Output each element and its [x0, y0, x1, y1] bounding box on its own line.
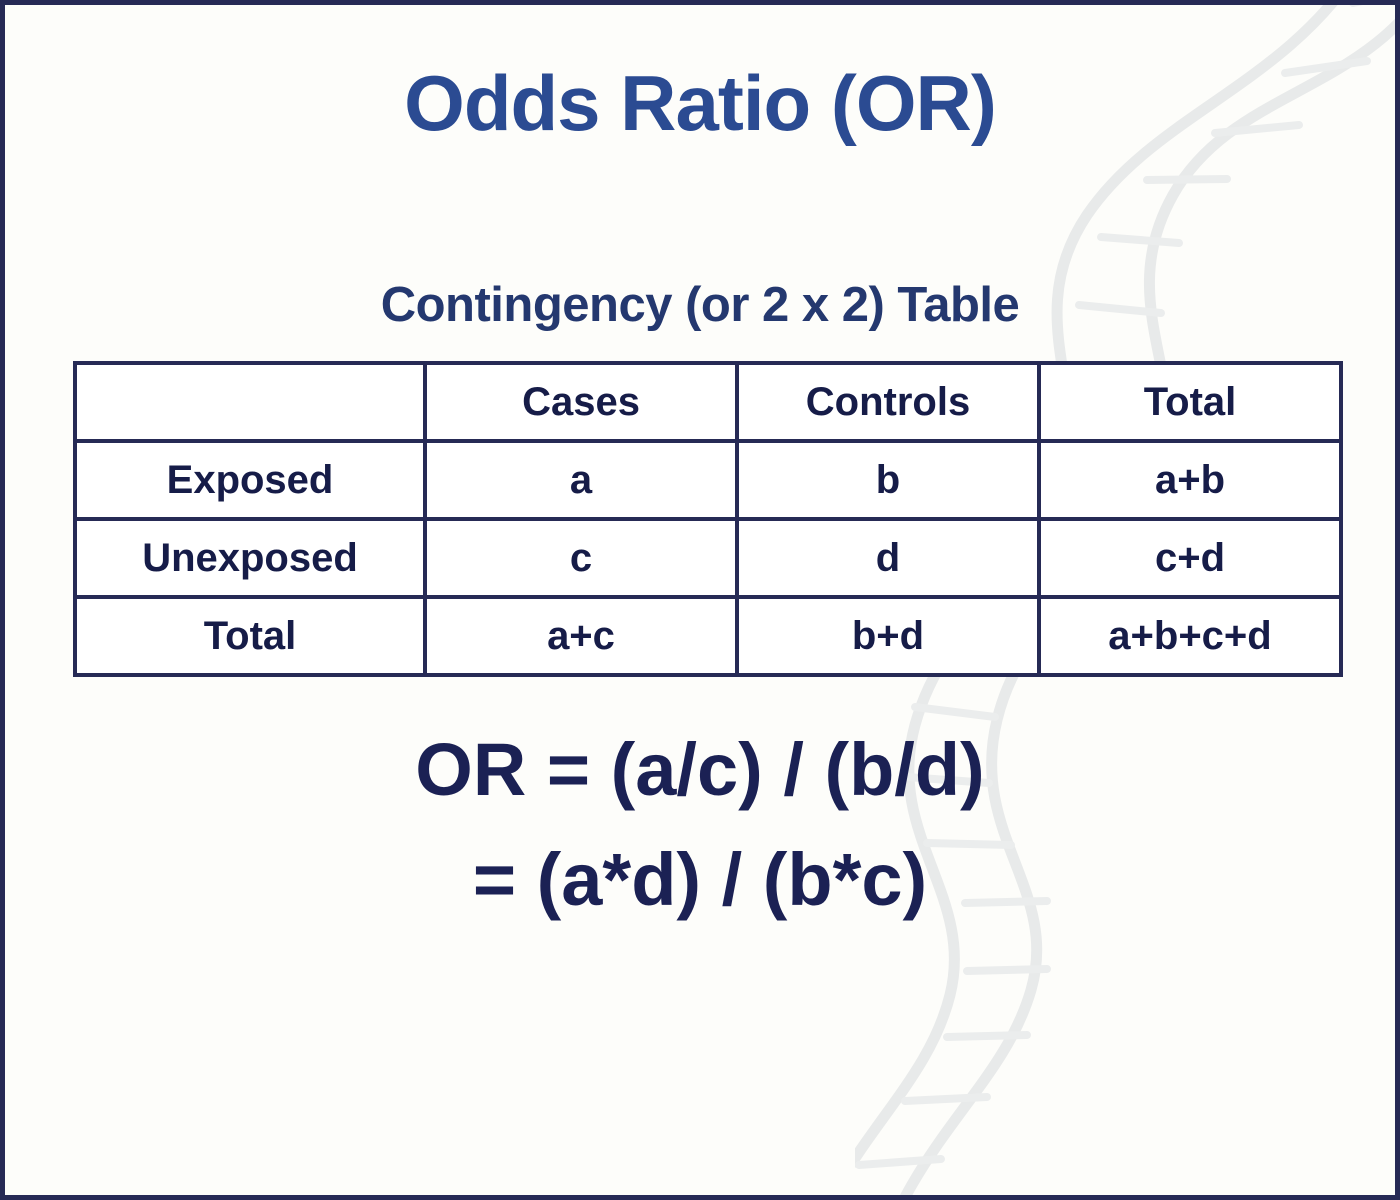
cell-exposed-total: a+b — [1039, 441, 1341, 519]
page-title: Odds Ratio (OR) — [5, 63, 1395, 145]
cell-exposed-controls: b — [737, 441, 1039, 519]
table-caption: Contingency (or 2 x 2) Table — [5, 277, 1395, 333]
cell-unexposed-cases: c — [425, 519, 737, 597]
table-header-row: Cases Controls Total — [75, 363, 1341, 441]
slide-canvas: Odds Ratio (OR) Contingency (or 2 x 2) T… — [0, 0, 1400, 1200]
column-header-controls: Controls — [737, 363, 1039, 441]
table-row: Total a+c b+d a+b+c+d — [75, 597, 1341, 675]
contingency-table: Cases Controls Total Exposed a b a+b Une… — [73, 361, 1343, 677]
formula-line-2: = (a*d) / (b*c) — [5, 841, 1395, 919]
formula-line-1: OR = (a/c) / (b/d) — [5, 731, 1395, 809]
row-label-exposed: Exposed — [75, 441, 425, 519]
table-corner-cell — [75, 363, 425, 441]
cell-grand-total: a+b+c+d — [1039, 597, 1341, 675]
row-label-total: Total — [75, 597, 425, 675]
cell-total-controls: b+d — [737, 597, 1039, 675]
cell-exposed-cases: a — [425, 441, 737, 519]
table-row: Exposed a b a+b — [75, 441, 1341, 519]
cell-unexposed-total: c+d — [1039, 519, 1341, 597]
row-label-unexposed: Unexposed — [75, 519, 425, 597]
column-header-total: Total — [1039, 363, 1341, 441]
column-header-cases: Cases — [425, 363, 737, 441]
cell-unexposed-controls: d — [737, 519, 1039, 597]
cell-total-cases: a+c — [425, 597, 737, 675]
table-row: Unexposed c d c+d — [75, 519, 1341, 597]
contingency-table-container: Cases Controls Total Exposed a b a+b Une… — [73, 361, 1339, 683]
